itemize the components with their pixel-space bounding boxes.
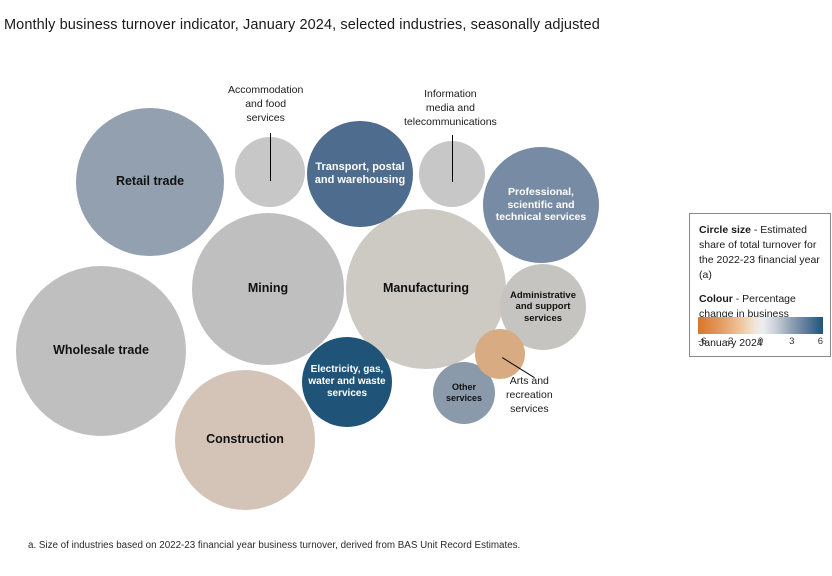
callout-leader-line — [270, 133, 271, 181]
callout-line-text: and food — [228, 98, 303, 112]
bubble-electricity-gas-water-and-waste-services[interactable]: Electricity, gas, water and waste servic… — [302, 337, 392, 427]
footnote: a. Size of industries based on 2022-23 f… — [28, 540, 520, 551]
legend-tick-neg6: -6 — [698, 336, 706, 347]
bubble-label: Administrative and support services — [500, 290, 586, 325]
callout-line-text: Arts and — [506, 375, 553, 389]
callout-leader-line — [452, 135, 453, 182]
bubble-label: Construction — [202, 432, 288, 447]
legend-tick-3: 3 — [789, 336, 794, 347]
legend-colour-title: Colour — [699, 293, 733, 305]
bubble-label: Transport, postal and warehousing — [307, 161, 413, 188]
bubble-label: Mining — [244, 281, 292, 296]
legend-tick-0: 0 — [758, 336, 763, 347]
legend-panel: Circle size - Estimated share of total t… — [689, 213, 831, 357]
bubble-transport-postal-and-warehousing[interactable]: Transport, postal and warehousing — [307, 121, 413, 227]
legend-scale-ticks: -6-3036 — [698, 336, 823, 350]
callout-label-arts-and-recreation-services: Arts andrecreationservices — [506, 375, 553, 417]
callout-line-text: services — [506, 403, 553, 417]
legend-size-title: Circle size — [699, 224, 751, 236]
callout-line-text: media and — [404, 102, 497, 116]
callout-line-text: Information — [404, 88, 497, 102]
bubble-label: Manufacturing — [379, 281, 473, 296]
callout-line-text: recreation — [506, 389, 553, 403]
legend-tick-6: 6 — [818, 336, 823, 347]
bubble-label: Other services — [433, 382, 495, 404]
callout-line-text: services — [228, 112, 303, 126]
bubble-label: Wholesale trade — [49, 343, 153, 358]
bubble-retail-trade[interactable]: Retail trade — [76, 108, 224, 256]
callout-label-accommodation-and-food-services: Accommodationand foodservices — [228, 84, 303, 126]
callout-line-text: telecommunications — [404, 116, 497, 130]
bubble-professional-scientific-and-technical-services[interactable]: Professional, scientific and technical s… — [483, 147, 599, 263]
legend-size-description: Circle size - Estimated share of total t… — [699, 223, 821, 283]
bubble-label: Electricity, gas, water and waste servic… — [302, 364, 392, 401]
page-title: Monthly business turnover indicator, Jan… — [4, 17, 600, 33]
callout-line-text: Accommodation — [228, 84, 303, 98]
bubble-construction[interactable]: Construction — [175, 370, 315, 510]
bubble-chart-canvas: Retail tradeTransport, postal and wareho… — [0, 55, 680, 525]
legend-tick-neg3: -3 — [725, 336, 733, 347]
bubble-wholesale-trade[interactable]: Wholesale trade — [16, 266, 186, 436]
bubble-arts-and-recreation-services[interactable] — [475, 329, 525, 379]
callout-label-information-media-and-telecommunications: Informationmedia andtelecommunications — [404, 88, 497, 130]
bubble-label: Professional, scientific and technical s… — [483, 186, 599, 224]
legend-colour-gradient-bar — [698, 317, 823, 334]
bubble-mining[interactable]: Mining — [192, 213, 344, 365]
bubble-label: Retail trade — [112, 174, 188, 189]
